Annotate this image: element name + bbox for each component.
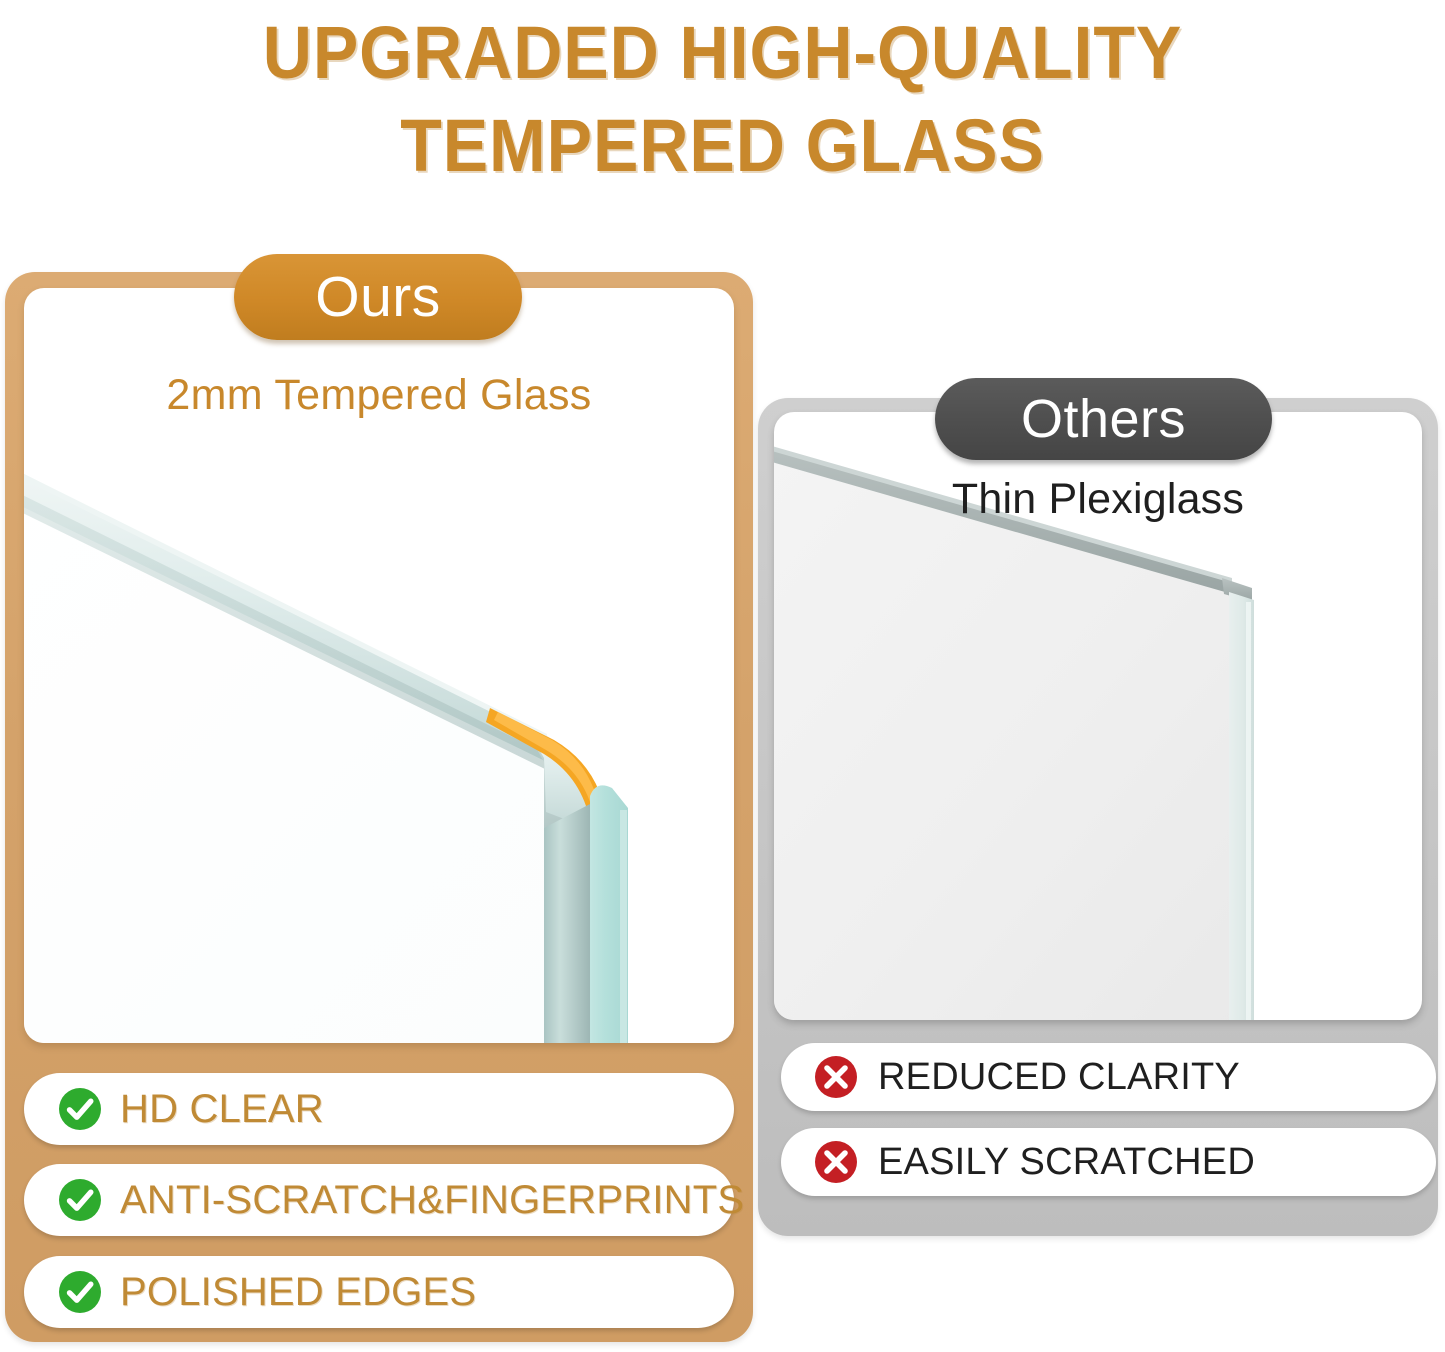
others-badge-label: Others bbox=[1021, 390, 1186, 448]
page-title-line-2: TEMPERED GLASS bbox=[58, 99, 1387, 192]
list-item-label: HD CLEAR bbox=[120, 1087, 324, 1131]
others-product-label: Thin Plexiglass bbox=[774, 475, 1422, 523]
list-item: POLISHED EDGES bbox=[24, 1256, 734, 1328]
cross-circle-icon bbox=[813, 1139, 859, 1185]
list-item: REDUCED CLARITY bbox=[781, 1043, 1436, 1111]
list-item: HD CLEAR bbox=[24, 1073, 734, 1145]
cross-circle-icon bbox=[813, 1054, 859, 1100]
check-circle-icon bbox=[57, 1269, 103, 1315]
page-title-line-1: UPGRADED HIGH-QUALITY bbox=[58, 6, 1387, 99]
list-item-label: ANTI-SCRATCH&FINGERPRINTS bbox=[120, 1178, 744, 1222]
list-item-label: REDUCED CLARITY bbox=[878, 1056, 1240, 1098]
list-item: ANTI-SCRATCH&FINGERPRINTS bbox=[24, 1164, 734, 1236]
list-item-label: POLISHED EDGES bbox=[120, 1270, 476, 1314]
ours-badge-label: Ours bbox=[315, 267, 441, 327]
ours-badge: Ours bbox=[234, 254, 522, 340]
ours-product-label: 2mm Tempered Glass bbox=[24, 371, 734, 419]
others-product-image-card: Thin Plexiglass bbox=[774, 412, 1422, 1020]
others-badge: Others bbox=[935, 378, 1272, 460]
list-item-label: EASILY SCRATCHED bbox=[878, 1141, 1255, 1183]
check-circle-icon bbox=[57, 1177, 103, 1223]
page-title: UPGRADED HIGH-QUALITY TEMPERED GLASS bbox=[0, 0, 1445, 192]
list-item: EASILY SCRATCHED bbox=[781, 1128, 1436, 1196]
check-circle-icon bbox=[57, 1086, 103, 1132]
ours-product-image-card: 2mm Tempered Glass bbox=[24, 288, 734, 1043]
